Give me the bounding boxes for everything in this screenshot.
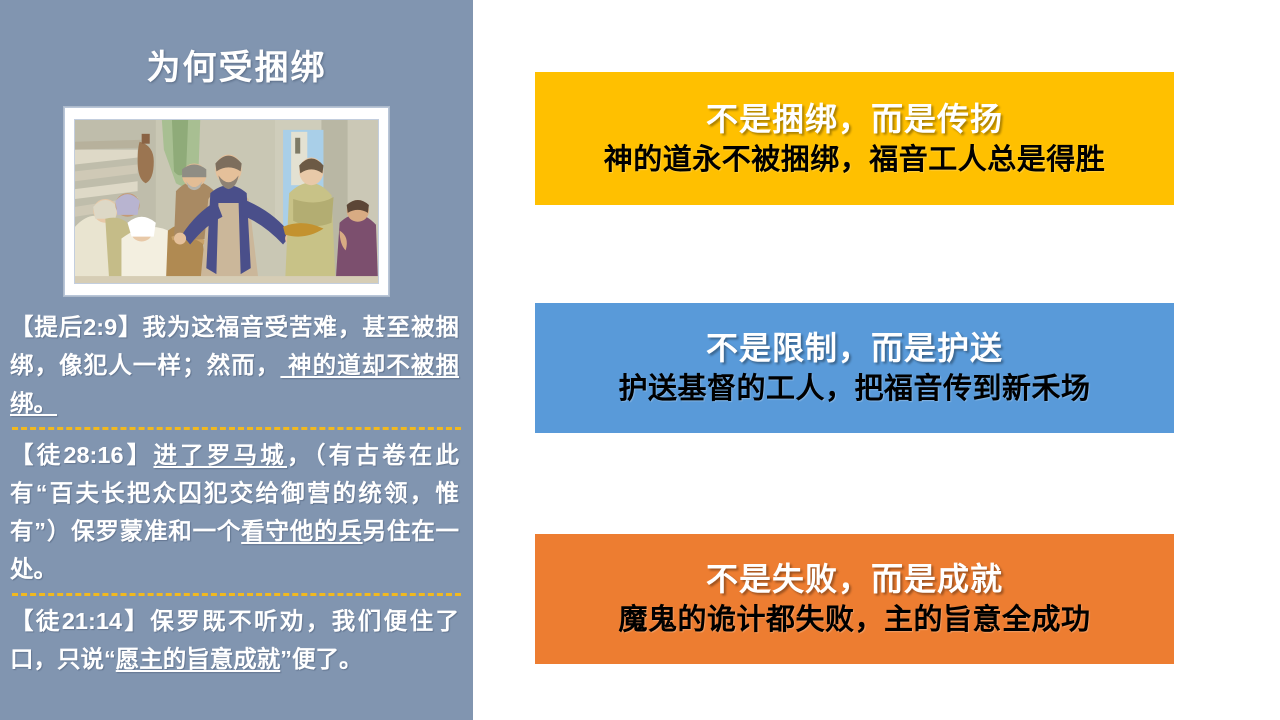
box-heading: 不是捆绑，而是传扬 — [706, 98, 1003, 140]
verse-segment-underlined: 进了罗马城 — [153, 442, 287, 468]
box-heading: 不是限制，而是护送 — [706, 327, 1003, 369]
page-title: 为何受捆绑 — [0, 40, 473, 89]
box-subtext: 魔鬼的诡计都失败，主的旨意全成功 — [618, 600, 1090, 640]
verse-2tim-2-9: 【提后2:9】我为这福音受苦难，甚至被捆绑，像犯人一样；然而， 神的道却不被捆绑… — [0, 308, 473, 422]
illustration-artwork — [75, 120, 378, 283]
point-box-not-bound-but-proclaimed: 不是捆绑，而是传扬 神的道永不被捆绑，福音工人总是得胜 — [535, 72, 1174, 205]
verse-acts-28-16: 【徒28:16】进了罗马城，（有古卷在此有“百夫长把众囚犯交给御营的统领，惟有”… — [0, 436, 473, 588]
verse-segment: 【徒28:16】 — [10, 442, 153, 468]
box-subtext: 神的道永不被捆绑，福音工人总是得胜 — [604, 140, 1106, 180]
box-subtext: 护送基督的工人，把福音传到新禾场 — [618, 369, 1090, 409]
box-heading: 不是失败，而是成就 — [706, 558, 1003, 600]
section-divider-1 — [12, 427, 461, 430]
point-box-not-failure-but-accomplishment: 不是失败，而是成就 魔鬼的诡计都失败，主的旨意全成功 — [535, 534, 1174, 664]
presentation-slide: 为何受捆绑 — [0, 0, 1280, 720]
illustration-frame — [64, 107, 389, 296]
left-panel: 为何受捆绑 — [0, 0, 473, 720]
section-divider-2 — [12, 593, 461, 596]
verse-segment-underlined: 看守他的兵 — [241, 518, 362, 544]
verse-segment-underlined: 愿主的旨意成就 — [116, 646, 281, 672]
verse-segment: ”便了。 — [280, 646, 362, 672]
scripture-list: 【提后2:9】我为这福音受苦难，甚至被捆绑，像犯人一样；然而， 神的道却不被捆绑… — [0, 308, 473, 678]
verse-acts-21-14: 【徒21:14】保罗既不听劝，我们便住了口，只说“愿主的旨意成就”便了。 — [0, 602, 473, 678]
paul-preaching-illustration — [74, 119, 379, 284]
point-box-not-restricted-but-escorted: 不是限制，而是护送 护送基督的工人，把福音传到新禾场 — [535, 303, 1174, 433]
